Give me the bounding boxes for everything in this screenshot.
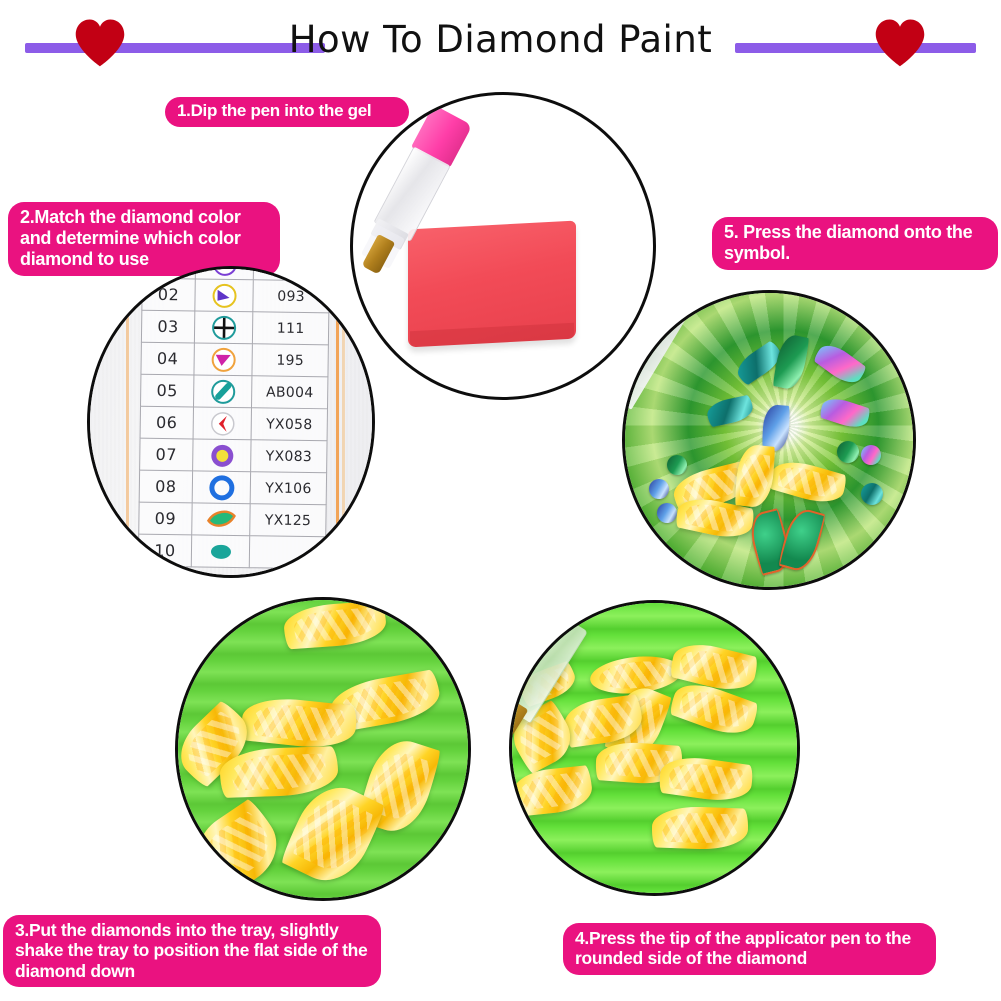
chart-cell-no: 06 bbox=[140, 406, 193, 439]
teal-shape-icon bbox=[191, 535, 250, 568]
yellow-dot-in-purple-ring-icon bbox=[193, 439, 252, 472]
gel-pad bbox=[408, 221, 576, 348]
chart-cell-code: 093 bbox=[253, 280, 329, 313]
rhinestone bbox=[861, 445, 881, 465]
rhinestone bbox=[649, 479, 669, 499]
step-2-label: 2.Match the diamond color and determine … bbox=[8, 202, 280, 276]
chart-cell-code: 020 bbox=[253, 266, 329, 281]
chart-cell-code: YX125 bbox=[250, 504, 326, 537]
photo-pen-dipping-into-gel bbox=[350, 92, 656, 400]
rhinestone bbox=[657, 503, 677, 523]
chart-cell-no: 02 bbox=[142, 278, 195, 311]
step-5-label: 5. Press the diamond onto the symbol. bbox=[712, 217, 998, 270]
table-row: 09 YX125 bbox=[139, 502, 326, 537]
chart-cell-code: AB004 bbox=[252, 376, 328, 409]
step-4-label: 4.Press the tip of the applicator pen to… bbox=[563, 923, 936, 975]
chart-cell-no: 05 bbox=[141, 374, 194, 407]
chart-cell-code: 195 bbox=[252, 344, 328, 377]
teal-slash-in-teal-circle-icon bbox=[193, 375, 252, 408]
chart-edge-strip bbox=[342, 266, 345, 578]
rhinestone bbox=[837, 441, 859, 463]
table-row: 08 YX106 bbox=[139, 470, 326, 505]
chart-cell-no: 03 bbox=[141, 310, 194, 343]
table-row: 05 AB004 bbox=[141, 374, 328, 409]
table-row: 02 093 bbox=[142, 278, 329, 313]
chart-cell-no: 08 bbox=[139, 470, 192, 503]
red-arrow-left-in-circle-icon bbox=[193, 407, 252, 440]
chart-edge-strip bbox=[126, 266, 129, 578]
table-row: 10 bbox=[138, 534, 325, 569]
table-row: 06 YX058 bbox=[140, 406, 327, 441]
purple-triangle-in-yellow-circle-icon bbox=[195, 279, 254, 312]
chart-cell-no: 04 bbox=[141, 342, 194, 375]
chart-cell-no: 07 bbox=[140, 438, 193, 471]
chart-cell-code bbox=[249, 536, 325, 569]
rhinestone bbox=[667, 455, 687, 475]
table-row: 03 111 bbox=[141, 310, 328, 345]
table-row: 07 YX083 bbox=[140, 438, 327, 473]
chart-cell-no: 10 bbox=[138, 534, 191, 567]
table-row: 04 195 bbox=[141, 342, 328, 377]
rhinestone bbox=[861, 483, 883, 505]
chart-cell-code: YX058 bbox=[251, 408, 327, 441]
plus-cross-in-teal-circle-icon bbox=[194, 311, 253, 344]
photo-pen-picking-up-diamond bbox=[509, 600, 800, 896]
chart-cell-code: YX083 bbox=[251, 440, 327, 473]
magenta-triangle-in-orange-circle-icon bbox=[194, 343, 253, 376]
chart-edge-strip bbox=[336, 266, 339, 578]
step-3-label: 3.Put the diamonds into the tray, slight… bbox=[3, 915, 381, 987]
photo-diamonds-in-tray bbox=[175, 597, 471, 901]
photo-diamond-color-chart: 01 020 bbox=[87, 266, 375, 578]
two-blue-dots-in-purple-circle-icon bbox=[195, 266, 254, 280]
green-leaf-in-orange-outline-icon bbox=[192, 503, 251, 536]
photo-placing-diamond-on-canvas bbox=[622, 290, 916, 590]
infographic-page: How To Diamond Paint 1.Dip the pen into … bbox=[0, 0, 1001, 1001]
blue-ring-icon bbox=[192, 471, 251, 504]
chart-cell-code: 111 bbox=[253, 312, 329, 345]
page-title: How To Diamond Paint bbox=[0, 18, 1001, 61]
chart-cell-no: 09 bbox=[139, 502, 192, 535]
chart-cell-code: YX106 bbox=[250, 472, 326, 505]
diamond-color-chart-table: 01 020 bbox=[138, 266, 330, 569]
